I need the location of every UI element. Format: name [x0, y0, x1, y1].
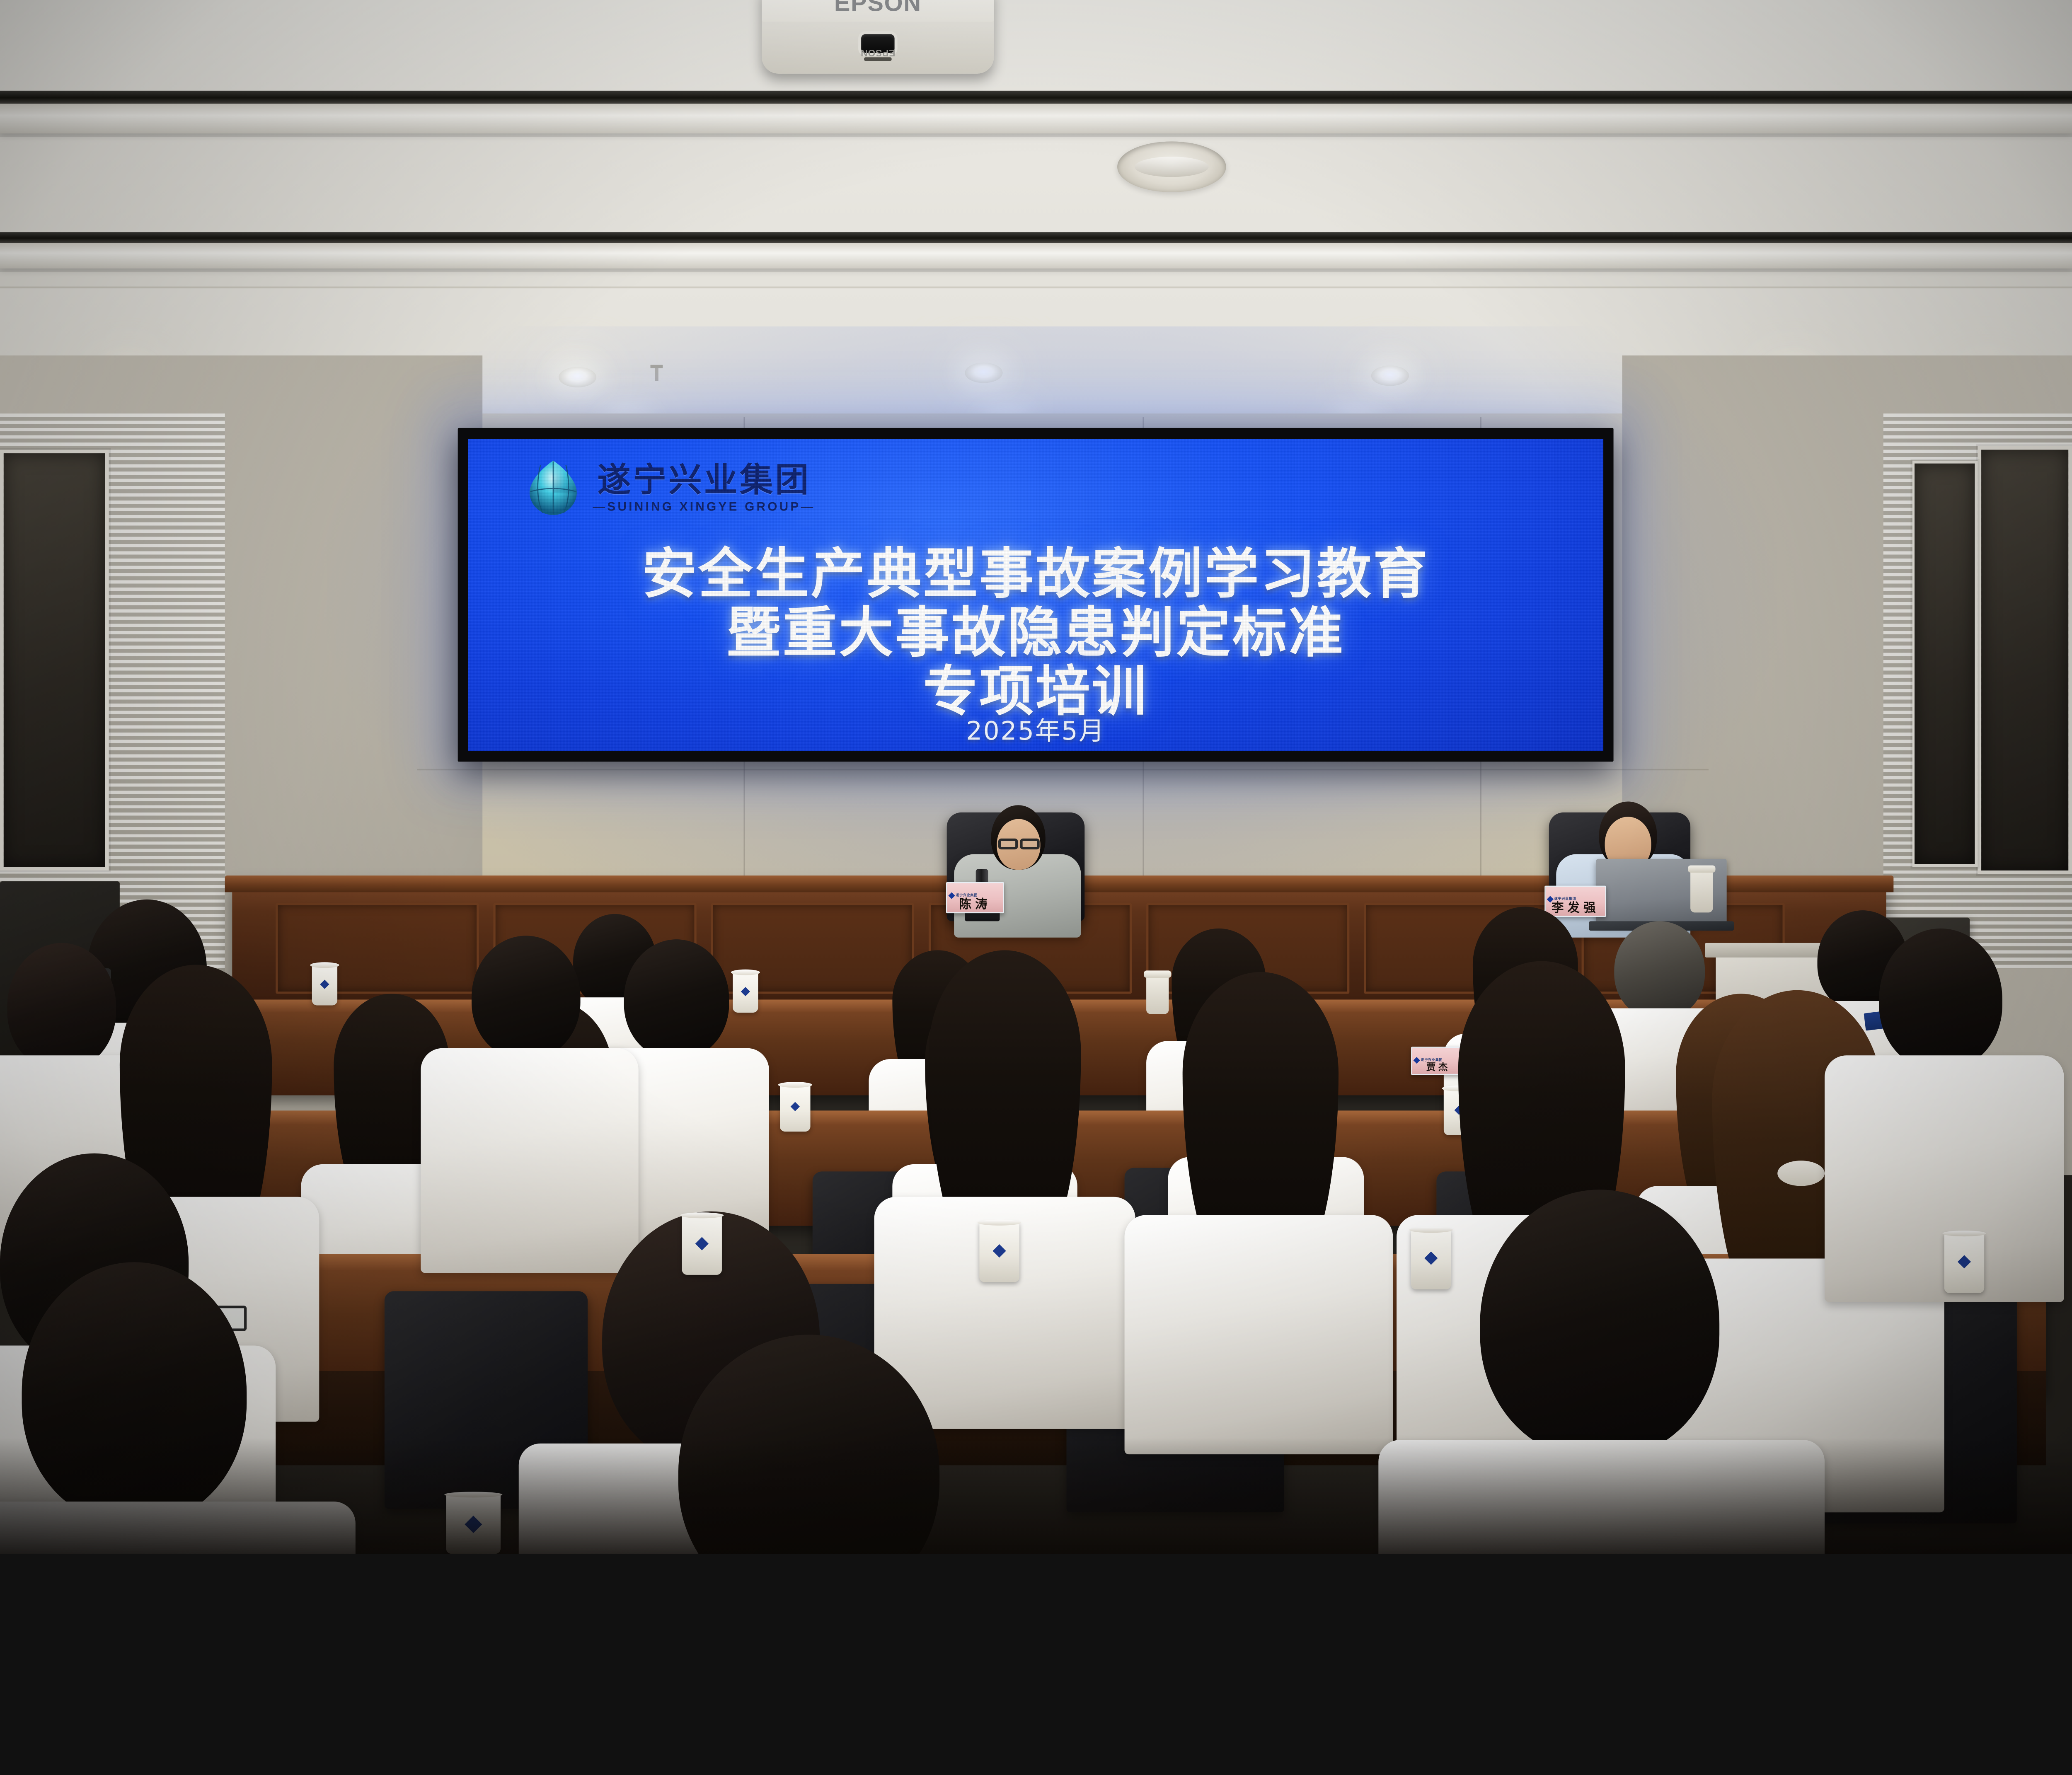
- cup-row1-b: [979, 1222, 1019, 1282]
- fan-diamond-logo-icon: [526, 459, 580, 516]
- downlight-3: [559, 367, 596, 387]
- ceiling-hook-2: [655, 366, 658, 381]
- ceiling-light-cove-1: [0, 91, 2072, 104]
- nameplate-3-name: 贾杰: [1426, 1063, 1450, 1074]
- cup-logo-icon: [1958, 1255, 1971, 1268]
- ceiling-beam-2: [0, 243, 2072, 268]
- ceiling-shadow-1: [0, 133, 2072, 137]
- cup-logo-icon: [1424, 1251, 1438, 1265]
- cup-row2-a: [780, 1084, 811, 1132]
- cup-logo-icon: [791, 1102, 800, 1111]
- ceiling-beam-1: [0, 104, 2072, 133]
- slide-logo: 遂宁兴业集团 —SUINING XINGYE GROUP—: [526, 459, 815, 516]
- nameplate-3-org: 遂宁兴业集团: [1421, 1059, 1443, 1062]
- cup-logo-icon: [320, 979, 329, 989]
- cup-row1-a: [682, 1215, 722, 1274]
- ceiling-speaker-icon-2: [1117, 141, 1226, 192]
- cup-row3-b: [733, 972, 758, 1013]
- speaker-1-glasses-icon: [998, 839, 1018, 849]
- cup-row1-d: [1944, 1233, 1984, 1293]
- slide-logo-text: 遂宁兴业集团 —SUINING XINGYE GROUP—: [593, 463, 815, 513]
- audience-head: [7, 943, 116, 1070]
- hair-tie: [1777, 1161, 1825, 1186]
- right-window-glass: [1981, 450, 2068, 870]
- slide-logo-en: —SUINING XINGYE GROUP—: [593, 501, 815, 513]
- projector-brand-label: EPSON: [762, 0, 994, 15]
- nameplate-audience-jia-jie: 遂宁兴业集团 贾杰: [1411, 1047, 1465, 1075]
- downlight-7: [1371, 365, 1409, 386]
- left-window-glass: [4, 453, 105, 867]
- cup-logo-icon: [695, 1237, 709, 1250]
- cup-row3-lidded: [1146, 976, 1169, 1014]
- right-window-glass-2: [1915, 464, 1975, 864]
- nameplate-1-name: 陈涛: [959, 898, 991, 912]
- audience-head-grey: [1614, 921, 1705, 1019]
- cup-logo-icon: [992, 1244, 1006, 1257]
- audience-head: [1879, 929, 2002, 1070]
- projector: EPSON EPSON: [762, 0, 994, 74]
- ceiling-shadow-2: [0, 268, 2072, 272]
- cup-row1-c: [1411, 1229, 1451, 1289]
- downlight-5: [965, 363, 1002, 383]
- floor-shadow: [0, 1438, 2072, 1554]
- nameplate-1-diamond-icon: [948, 892, 955, 899]
- wall-seam-horizontal: [417, 769, 1709, 771]
- conference-room-photo: EPSON EPSON: [0, 0, 2072, 1554]
- cup-row3-a: [312, 965, 337, 1005]
- audience-torso: [1125, 1215, 1393, 1454]
- projector-brand-label-bottom: EPSON: [762, 48, 994, 58]
- audience-head: [624, 939, 729, 1059]
- audience-torso: [421, 1048, 638, 1273]
- nameplate-2-name: 李发强: [1552, 902, 1600, 916]
- nameplate-speaker-1: 遂宁兴业集团 陈涛: [946, 882, 1004, 913]
- head-table-panel-1: [276, 903, 479, 994]
- led-screen: 遂宁兴业集团 —SUINING XINGYE GROUP— 安全生产典型事故案例…: [468, 439, 1603, 751]
- audience-head: [472, 936, 581, 1059]
- nameplate-speaker-2: 遂宁兴业集团 李发强: [1544, 886, 1606, 917]
- head-speaker-1: [914, 791, 1117, 910]
- ceiling-light-cove-2: [0, 232, 2072, 243]
- slide-logo-cn: 遂宁兴业集团: [598, 463, 811, 498]
- table-cup-lidded: [1690, 871, 1713, 913]
- cup-logo-icon: [741, 987, 750, 996]
- audience-head: [1480, 1190, 1719, 1458]
- speaker-1-glasses-icon-2: [1020, 839, 1039, 849]
- slide-date: 2025年5月: [468, 718, 1603, 743]
- nameplate-3-diamond-icon: [1414, 1057, 1420, 1064]
